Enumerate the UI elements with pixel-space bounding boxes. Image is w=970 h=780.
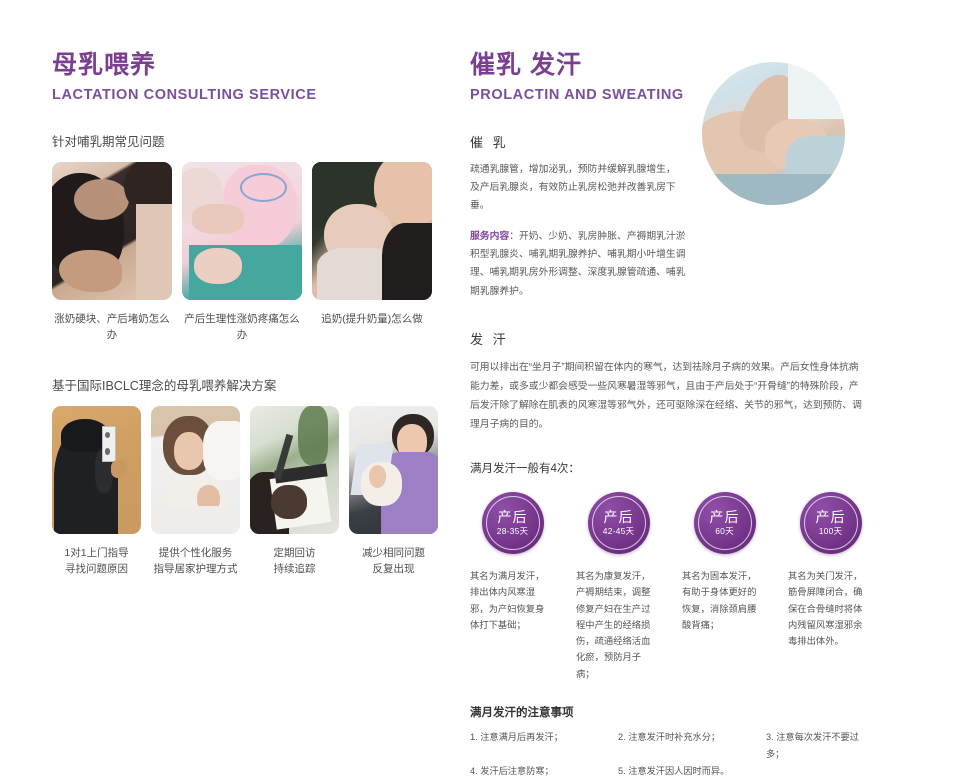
caption-item: 产后生理性涨奶疼痛怎么办 <box>182 311 302 344</box>
left-photo-row-2 <box>52 406 470 534</box>
badge-cell: 产后 60天 其名为固本发汗，有助于身体更好的恢复，消除颈肩腰酸背痛； <box>682 492 767 682</box>
caption-line-1: 提供个性化服务 <box>151 545 240 561</box>
photo-art <box>151 406 240 534</box>
lactation-service-paragraph: 服务内容：开奶、少奶、乳房肿胀、产褥期乳汁淤积型乳腺炎、哺乳期乳腺养护、哺乳期小… <box>470 228 688 300</box>
sweating-badge-row: 产后 28-35天 其名为满月发汗，排出体内风寒湿邪，为产妇恢复身体打下基础； … <box>470 492 930 682</box>
caption-line-1: 1对1上门指导 <box>52 545 141 561</box>
left-photo-row-1 <box>52 162 470 300</box>
photo-art <box>182 162 302 300</box>
badge-description: 其名为康复发汗，产褥期结束，调整修复产妇在生产过程中产生的经络损伤，疏通经络活血… <box>576 568 656 682</box>
left-caption-row-1: 涨奶硬块、产后堵奶怎么办 产后生理性涨奶疼痛怎么办 追奶(提升奶量)怎么做 <box>52 311 470 344</box>
lactation-heading: 催 乳 <box>470 132 688 151</box>
note-item: 4. 发汗后注意防寒； <box>470 763 618 780</box>
caption-item: 定期回访 持续追踪 <box>250 545 339 578</box>
caption-item: 减少相同问题 反复出现 <box>349 545 438 578</box>
left-title-cn: 母乳喂养 <box>52 52 470 80</box>
note-item: 2. 注意发汗时补充水分； <box>618 729 766 763</box>
caption-item: 涨奶硬块、产后堵奶怎么办 <box>52 311 172 344</box>
photo-art <box>349 406 438 534</box>
caption-line-1: 减少相同问题 <box>349 545 438 561</box>
caption-item: 追奶(提升奶量)怎么做 <box>312 311 432 344</box>
badge-cell: 产后 42-45天 其名为康复发汗，产褥期结束，调整修复产妇在生产过程中产生的经… <box>576 492 661 682</box>
badge-description: 其名为关门发汗，筋骨屏障闭合，确保在合骨缝时将体内残留风寒湿邪余毒排出体外。 <box>788 568 868 649</box>
badge-days-label: 42-45天 <box>603 527 634 536</box>
photo-art <box>702 62 845 205</box>
photo-art <box>52 162 172 300</box>
postpartum-badge: 产后 42-45天 <box>588 492 650 554</box>
lactation-text-block: 催 乳 疏通乳腺管，增加泌乳，预防并缓解乳腺增生， 及产后乳腺炎，有效防止乳房松… <box>470 132 688 301</box>
left-section2-label: 基于国际IBCLC理念的母乳喂养解决方案 <box>52 378 470 394</box>
badge-inner: 产后 42-45天 <box>603 510 634 536</box>
left-title-en: LACTATION CONSULTING SERVICE <box>52 87 470 104</box>
home-visit-doorbell-photo <box>52 406 141 534</box>
right-title-en: PROLACTIN AND SWEATING <box>470 87 930 104</box>
caption-item: 1对1上门指导 寻找问题原因 <box>52 545 141 578</box>
left-column: 母乳喂养 LACTATION CONSULTING SERVICE 针对哺乳期常… <box>0 0 470 664</box>
service-content-keyword: 服务内容 <box>470 231 509 242</box>
badge-inner: 产后 100天 <box>816 510 846 536</box>
badge-days-label: 100天 <box>816 527 846 536</box>
badge-cell: 产后 100天 其名为关门发汗，筋骨屏障闭合，确保在合骨缝时将体内残留风寒湿邪余… <box>788 492 873 682</box>
massage-therapy-photo <box>702 62 845 205</box>
caption-line-2: 反复出现 <box>349 561 438 577</box>
badges-title: 满月发汗一般有4次： <box>470 460 930 476</box>
right-column: 催乳 发汗 PROLACTIN AND SWEATING 催 乳 疏通乳腺管，增… <box>470 0 970 664</box>
caption-line-2: 持续追踪 <box>250 561 339 577</box>
nurse-holding-baby-photo <box>349 406 438 534</box>
badge-cell: 产后 28-35天 其名为满月发汗，排出体内风寒湿邪，为产妇恢复身体打下基础； <box>470 492 555 682</box>
badge-days-label: 60天 <box>710 527 740 536</box>
breastfeeding-baby-photo <box>312 162 432 300</box>
lactation-paragraph: 疏通乳腺管，增加泌乳，预防并缓解乳腺增生， 及产后乳腺炎，有效防止乳房松弛并改善… <box>470 161 688 215</box>
photo-art <box>312 162 432 300</box>
right-title-cn: 催乳 发汗 <box>470 52 930 80</box>
badge-top-label: 产后 <box>710 510 740 524</box>
lactation-para-line2: 及产后乳腺炎，有效防止乳房松弛并改善乳房下垂。 <box>470 182 676 211</box>
note-item: 5. 注意发汗因人因时而异。 <box>618 763 766 780</box>
left-section1-label: 针对哺乳期常见问题 <box>52 134 470 150</box>
badge-description: 其名为固本发汗，有助于身体更好的恢复，消除颈肩腰酸背痛； <box>682 568 762 633</box>
badge-top-label: 产后 <box>497 510 528 524</box>
badge-description: 其名为满月发汗，排出体内风寒湿邪，为产妇恢复身体打下基础； <box>470 568 550 633</box>
photo-art <box>52 406 141 534</box>
badge-inner: 产后 60天 <box>710 510 740 536</box>
caption-line-2: 寻找问题原因 <box>52 561 141 577</box>
caption-line-2: 指导居家护理方式 <box>151 561 240 577</box>
notes-title: 满月发汗的注意事项 <box>470 704 930 720</box>
note-item: 1. 注意满月后再发汗； <box>470 729 618 763</box>
postpartum-badge: 产后 28-35天 <box>482 492 544 554</box>
clipboard-followup-photo <box>250 406 339 534</box>
sweating-heading: 发 汗 <box>470 329 930 348</box>
left-caption-row-2: 1对1上门指导 寻找问题原因 提供个性化服务 指导居家护理方式 定期回访 持续追… <box>52 545 470 578</box>
photo-art <box>250 406 339 534</box>
notes-grid: 1. 注意满月后再发汗； 2. 注意发汗时补充水分； 3. 注意每次发汗不要过多… <box>470 729 870 780</box>
mother-and-newborn-photo <box>151 406 240 534</box>
breast-self-check-photo <box>52 162 172 300</box>
lactation-consultant-photo <box>182 162 302 300</box>
caption-item: 提供个性化服务 指导居家护理方式 <box>151 545 240 578</box>
badge-top-label: 产后 <box>603 510 634 524</box>
sweating-paragraph: 可用以排出在“坐月子”期间积留在体内的寒气，达到祛除月子病的效果。产后女性身体抗… <box>470 358 868 434</box>
lactation-para-line1: 疏通乳腺管，增加泌乳，预防并缓解乳腺增生， <box>470 164 676 175</box>
brochure-page: 母乳喂养 LACTATION CONSULTING SERVICE 针对哺乳期常… <box>0 0 970 664</box>
badge-days-label: 28-35天 <box>497 527 528 536</box>
postpartum-badge: 产后 100天 <box>800 492 862 554</box>
postpartum-badge: 产后 60天 <box>694 492 756 554</box>
caption-line-1: 定期回访 <box>250 545 339 561</box>
badge-inner: 产后 28-35天 <box>497 510 528 536</box>
note-item: 3. 注意每次发汗不要过多； <box>766 729 870 763</box>
badge-top-label: 产后 <box>816 510 846 524</box>
